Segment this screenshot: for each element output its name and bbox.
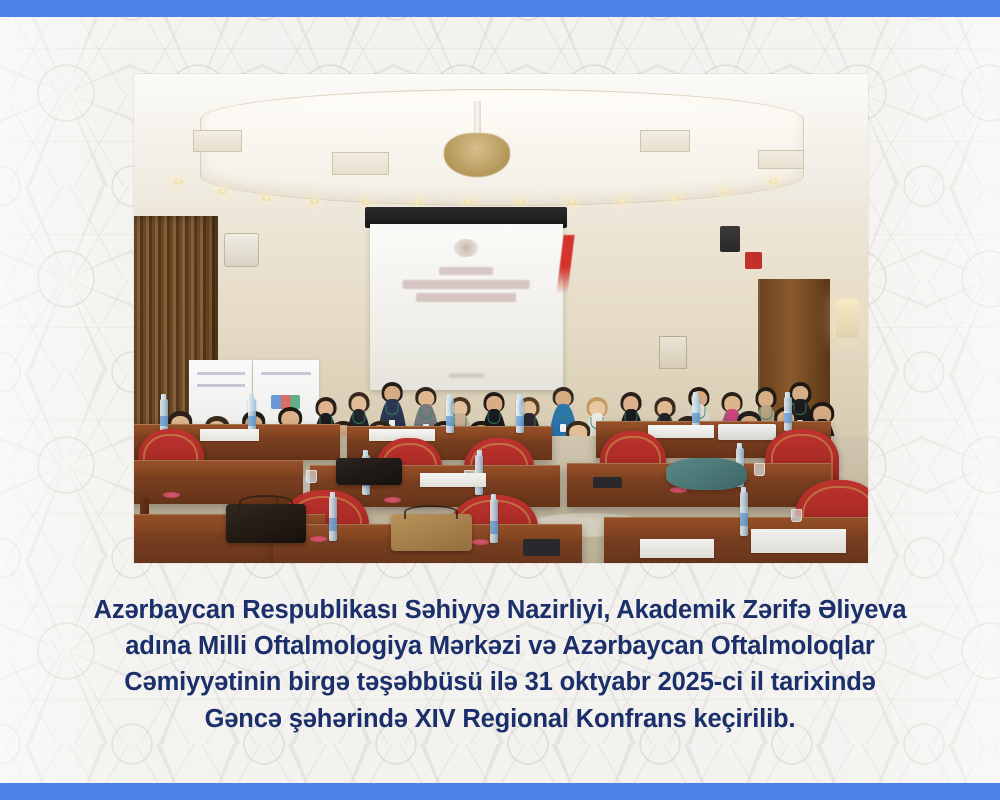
water-bottle bbox=[516, 399, 524, 433]
water-bottle bbox=[740, 492, 748, 536]
bottom-accent-bar bbox=[0, 783, 1000, 800]
coaster bbox=[384, 497, 401, 503]
water-bottle bbox=[784, 397, 792, 431]
poster-root: Azərbaycan Respublikası Səhiyyə Nazirliy… bbox=[0, 0, 1000, 800]
mobile-phone bbox=[523, 539, 560, 556]
caption-line-3: Cəmiyyətinin birgə təşəbbüsü ilə 31 okty… bbox=[60, 664, 940, 700]
handbag bbox=[336, 458, 402, 485]
drinking-glass bbox=[754, 463, 765, 476]
coaster bbox=[472, 539, 489, 545]
document-sheet bbox=[200, 429, 259, 442]
document-sheet bbox=[648, 425, 714, 438]
caption-line-2: adına Milli Oftalmologiya Mərkəzi və Azə… bbox=[60, 628, 940, 664]
document-sheet bbox=[640, 539, 713, 559]
top-accent-bar bbox=[0, 0, 1000, 17]
table-top bbox=[134, 460, 303, 476]
drinking-glass bbox=[791, 509, 802, 522]
mobile-phone bbox=[593, 477, 622, 488]
conference-photo bbox=[134, 74, 868, 563]
laptop bbox=[718, 424, 777, 441]
lanyard bbox=[420, 407, 433, 419]
document-sheet bbox=[420, 473, 486, 488]
folded-garment bbox=[666, 458, 747, 490]
lanyard bbox=[557, 407, 570, 419]
lanyard bbox=[386, 403, 399, 415]
bag-handle bbox=[239, 495, 293, 509]
handbag bbox=[226, 504, 307, 543]
water-bottle bbox=[329, 497, 337, 541]
bag-handle bbox=[404, 505, 458, 519]
water-bottle bbox=[446, 399, 454, 433]
photo-canvas bbox=[134, 74, 868, 563]
caption-block: Azərbaycan Respublikası Səhiyyə Nazirliy… bbox=[60, 592, 940, 737]
caption-line-4: Gəncə şəhərində XIV Regional Konfrans ke… bbox=[60, 701, 940, 737]
caption-line-1: Azərbaycan Respublikası Səhiyyə Nazirliy… bbox=[60, 592, 940, 628]
document-sheet bbox=[751, 529, 846, 553]
briefcase bbox=[391, 514, 472, 551]
water-bottle bbox=[490, 499, 498, 543]
drinking-glass bbox=[306, 470, 317, 483]
